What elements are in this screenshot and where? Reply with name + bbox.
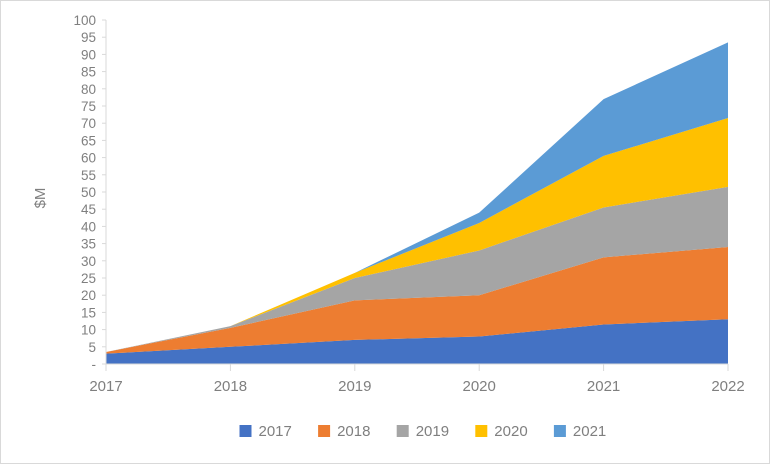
y-axis-title: $M xyxy=(32,188,49,209)
y-tick-label: 10 xyxy=(81,323,96,338)
legend-label-2019[interactable]: 2019 xyxy=(416,423,449,440)
chart-container: -510152025303540455055606570758085909510… xyxy=(0,0,770,464)
legend-swatch-2019[interactable] xyxy=(397,425,409,437)
y-tick-label: - xyxy=(92,357,97,372)
y-tick-label: 25 xyxy=(81,271,96,286)
x-tick-label: 2019 xyxy=(338,378,371,395)
y-axis-ticks: -510152025303540455055606570758085909510… xyxy=(73,13,106,372)
legend-swatch-2020[interactable] xyxy=(475,425,487,437)
y-tick-label: 40 xyxy=(81,219,96,234)
chart-legend: 20172018201920202021 xyxy=(240,423,607,440)
y-tick-label: 95 xyxy=(81,30,96,45)
x-tick-label: 2022 xyxy=(711,378,744,395)
legend-label-2017[interactable]: 2017 xyxy=(259,423,292,440)
legend-swatch-2017[interactable] xyxy=(240,425,252,437)
legend-label-2021[interactable]: 2021 xyxy=(573,423,606,440)
y-axis-title-text: $M xyxy=(32,188,49,209)
legend-swatch-2018[interactable] xyxy=(318,425,330,437)
y-tick-label: 5 xyxy=(88,340,96,355)
y-tick-label: 50 xyxy=(81,185,96,200)
y-tick-label: 85 xyxy=(81,65,96,80)
plot-area: -510152025303540455055606570758085909510… xyxy=(1,1,770,464)
y-tick-label: 90 xyxy=(81,47,96,62)
x-axis-ticks: 201720182019202020212022 xyxy=(89,364,744,395)
y-tick-label: 30 xyxy=(81,254,96,269)
x-tick-label: 2018 xyxy=(214,378,247,395)
legend-label-2018[interactable]: 2018 xyxy=(337,423,370,440)
y-tick-label: 100 xyxy=(73,13,96,28)
y-tick-label: 35 xyxy=(81,237,96,252)
legend-swatch-2021[interactable] xyxy=(554,425,566,437)
x-tick-label: 2017 xyxy=(89,378,122,395)
y-tick-label: 45 xyxy=(81,202,96,217)
stacked-areas xyxy=(106,42,728,364)
y-tick-label: 65 xyxy=(81,133,96,148)
y-tick-label: 80 xyxy=(81,82,96,97)
y-tick-label: 70 xyxy=(81,116,96,131)
chart-svg: -510152025303540455055606570758085909510… xyxy=(1,1,770,464)
y-tick-label: 60 xyxy=(81,151,96,166)
y-tick-label: 55 xyxy=(81,168,96,183)
y-tick-label: 15 xyxy=(81,305,96,320)
x-tick-label: 2020 xyxy=(463,378,496,395)
y-tick-label: 20 xyxy=(81,288,96,303)
x-tick-label: 2021 xyxy=(587,378,620,395)
legend-label-2020[interactable]: 2020 xyxy=(494,423,527,440)
y-tick-label: 75 xyxy=(81,99,96,114)
